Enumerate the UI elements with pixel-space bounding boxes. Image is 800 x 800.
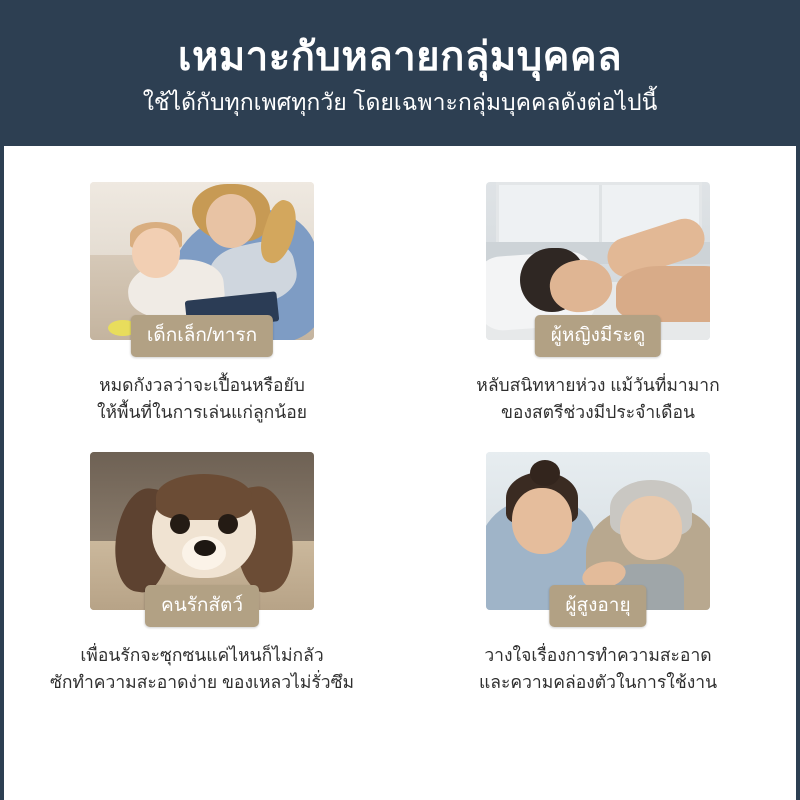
card-elderly-caption: วางใจเรื่องการทำความสะอาด และความคล่องตั… xyxy=(479,642,717,696)
card-elderly-badge: ผู้สูงอายุ xyxy=(549,585,646,627)
page-title: เหมาะกับหลายกลุ่มบุคคล xyxy=(178,34,622,80)
card-menstruation-caption: หลับสนิทหายห่วง แม้วันที่มามาก ของสตรีช่… xyxy=(476,372,719,426)
cards-grid: เด็กเล็ก/ทารก หมดกังวลว่าจะเปื้อนหรือยับ… xyxy=(4,146,796,697)
card-menstruation-photo-wrap: ผู้หญิงมีระดู xyxy=(486,182,710,340)
card-pet-lover: คนรักสัตว์ เพื่อนรักจะซุกซนแค่ไหนก็ไม่กล… xyxy=(4,452,400,696)
card-menstruation-badge: ผู้หญิงมีระดู xyxy=(535,315,661,357)
card-menstruation-caption-line1: หลับสนิทหายห่วง แม้วันที่มามาก xyxy=(476,372,719,399)
card-baby-caption-line1: หมดกังวลว่าจะเปื้อนหรือยับ xyxy=(97,372,307,399)
card-baby-photo-wrap: เด็กเล็ก/ทารก xyxy=(90,182,314,340)
page-subtitle: ใช้ได้กับทุกเพศทุกวัย โดยเฉพาะกลุ่มบุคคล… xyxy=(143,88,658,118)
card-baby-caption: หมดกังวลว่าจะเปื้อนหรือยับ ให้พื้นที่ในก… xyxy=(97,372,307,426)
card-pet-lover-caption-line2: ซักทำความสะอาดง่าย ของเหลวไม่รั่วซึม xyxy=(50,669,354,696)
card-baby: เด็กเล็ก/ทารก หมดกังวลว่าจะเปื้อนหรือยับ… xyxy=(4,182,400,426)
card-baby-badge: เด็กเล็ก/ทารก xyxy=(131,315,273,357)
card-elderly: ผู้สูงอายุ วางใจเรื่องการทำความสะอาด และ… xyxy=(400,452,796,696)
card-elderly-caption-line1: วางใจเรื่องการทำความสะอาด xyxy=(479,642,717,669)
card-pet-lover-photo-wrap: คนรักสัตว์ xyxy=(90,452,314,610)
card-baby-caption-line2: ให้พื้นที่ในการเล่นแก่ลูกน้อย xyxy=(97,399,307,426)
card-elderly-photo-wrap: ผู้สูงอายุ xyxy=(486,452,710,610)
card-menstruation-caption-line2: ของสตรีช่วงมีประจำเดือน xyxy=(476,399,719,426)
page-header: เหมาะกับหลายกลุ่มบุคคล ใช้ได้กับทุกเพศทุ… xyxy=(4,0,796,146)
card-pet-lover-caption-line1: เพื่อนรักจะซุกซนแค่ไหนก็ไม่กลัว xyxy=(50,642,354,669)
card-elderly-caption-line2: และความคล่องตัวในการใช้งาน xyxy=(479,669,717,696)
card-menstruation: ผู้หญิงมีระดู หลับสนิทหายห่วง แม้วันที่ม… xyxy=(400,182,796,426)
card-pet-lover-badge: คนรักสัตว์ xyxy=(145,585,259,627)
card-pet-lover-caption: เพื่อนรักจะซุกซนแค่ไหนก็ไม่กลัว ซักทำควา… xyxy=(50,642,354,696)
promo-page: เหมาะกับหลายกลุ่มบุคคล ใช้ได้กับทุกเพศทุ… xyxy=(0,0,800,800)
